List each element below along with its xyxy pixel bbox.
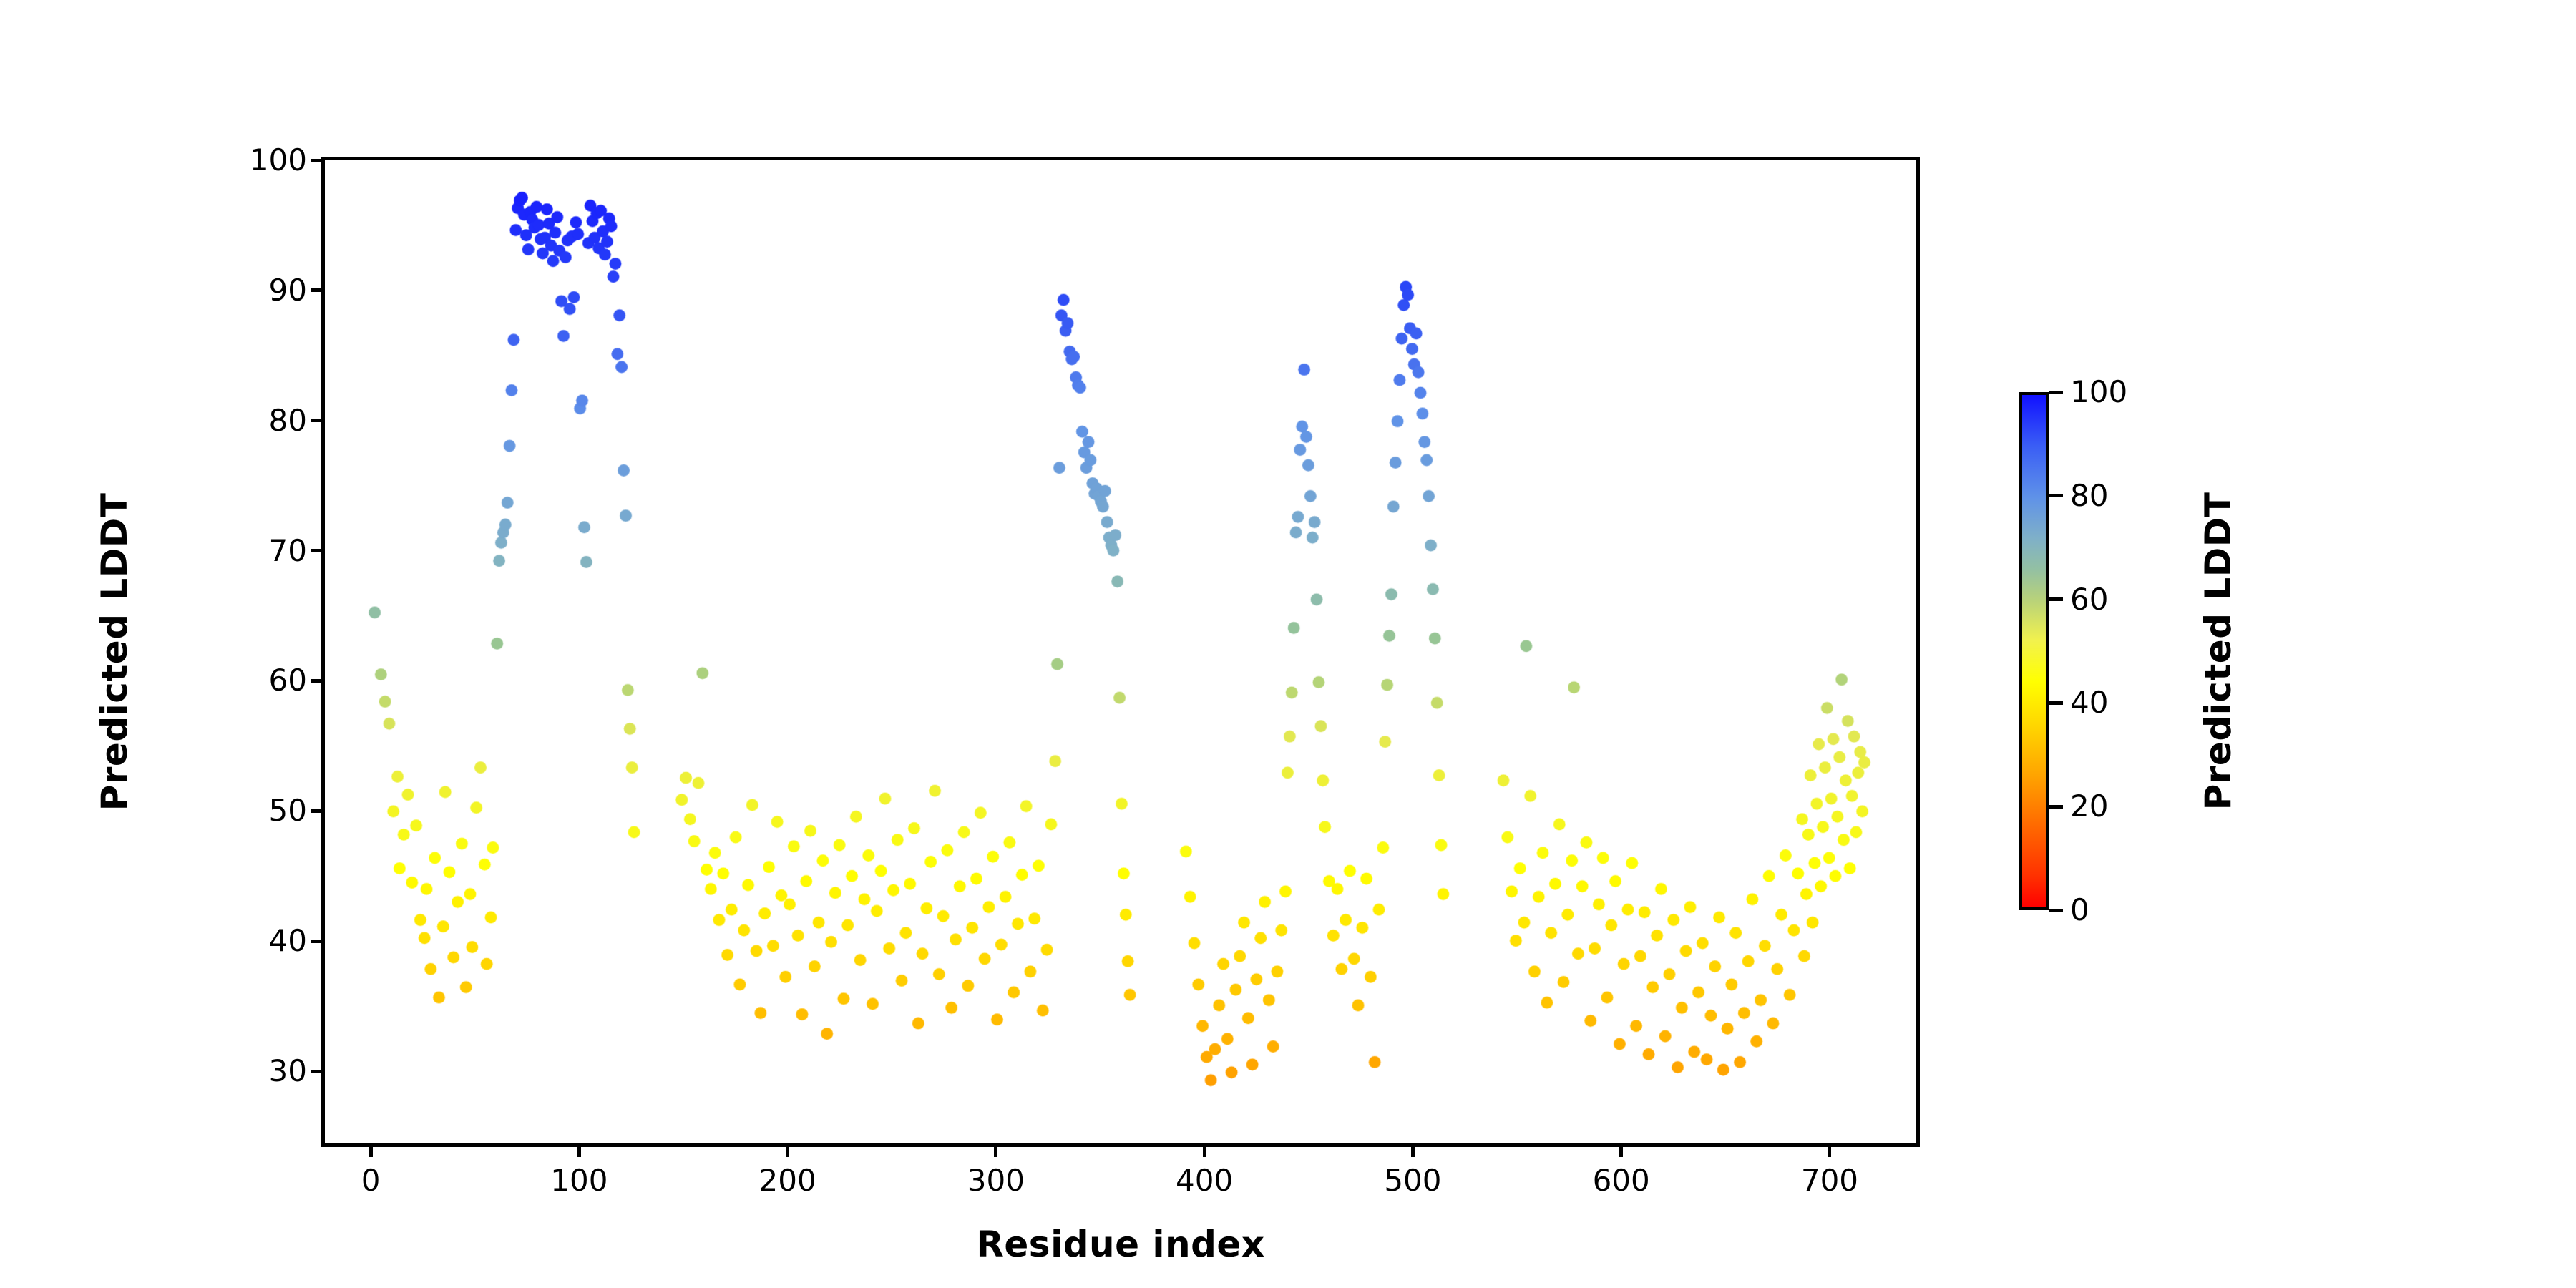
x-tick-label: 300: [967, 1166, 1025, 1196]
x-tick-label: 500: [1384, 1166, 1441, 1196]
y-tick-label: 100: [250, 145, 311, 175]
x-tick-label: 0: [361, 1166, 381, 1196]
colorbar-tick-mark: [2049, 494, 2063, 497]
colorbar-tick-label: 0: [2063, 895, 2089, 925]
colorbar-tick-mark: [2049, 805, 2063, 809]
y-tick-mark: [311, 288, 325, 292]
colorbar-tick-mark: [2049, 391, 2063, 394]
colorbar-tick-label: 80: [2063, 481, 2108, 511]
scatter-plot-axes: 30405060708090100 0100200300400500600700: [321, 157, 1920, 1147]
colorbar-label: Predicted LDDT: [2197, 492, 2239, 811]
x-tick-mark: [577, 1143, 581, 1157]
colorbar-tick-mark: [2049, 597, 2063, 601]
y-axis-label: Predicted LDDT: [94, 493, 135, 811]
colorbar-tick-mark: [2049, 701, 2063, 705]
x-tick-mark: [994, 1143, 997, 1157]
y-tick-label: 30: [269, 1056, 311, 1086]
colorbar-tick-label: 40: [2063, 688, 2108, 718]
y-tick-mark: [311, 940, 325, 943]
x-tick-mark: [1828, 1143, 1831, 1157]
colorbar-tick-label: 100: [2063, 377, 2127, 407]
y-tick-label: 40: [269, 926, 311, 956]
colorbar-tick-label: 20: [2063, 791, 2108, 821]
y-tick-mark: [311, 679, 325, 683]
scatter-points-layer: [325, 160, 1916, 1143]
x-tick-label: 100: [550, 1166, 608, 1196]
y-tick-label: 60: [269, 665, 311, 696]
x-tick-label: 600: [1593, 1166, 1650, 1196]
colorbar-tick-mark: [2049, 909, 2063, 912]
x-tick-mark: [1411, 1143, 1415, 1157]
x-axis-label: Residue index: [321, 1224, 1920, 1265]
x-tick-mark: [786, 1143, 789, 1157]
y-tick-mark: [311, 419, 325, 422]
figure-canvas: 30405060708090100 0100200300400500600700…: [0, 0, 2576, 1288]
x-tick-mark: [1203, 1143, 1206, 1157]
y-tick-label: 70: [269, 536, 311, 566]
colorbar-gradient: [2019, 392, 2049, 910]
colorbar-tick-label: 60: [2063, 585, 2108, 615]
x-tick-label: 200: [759, 1166, 816, 1196]
colorbar: 020406080100: [2019, 392, 2049, 910]
y-tick-mark: [311, 549, 325, 552]
y-tick-mark: [311, 1070, 325, 1073]
y-tick-label: 90: [269, 275, 311, 306]
x-tick-label: 400: [1176, 1166, 1233, 1196]
y-tick-label: 80: [269, 406, 311, 436]
y-tick-mark: [311, 159, 325, 162]
x-tick-mark: [369, 1143, 373, 1157]
y-tick-label: 50: [269, 796, 311, 826]
x-tick-label: 700: [1801, 1166, 1858, 1196]
y-tick-mark: [311, 809, 325, 813]
x-tick-mark: [1619, 1143, 1623, 1157]
